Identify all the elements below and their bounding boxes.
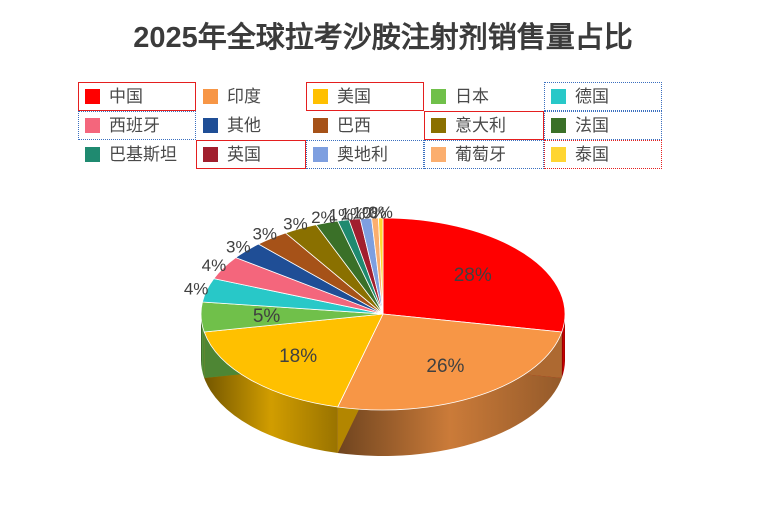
- pie-chart-figure: 2025年全球拉考沙胺注射剂销售量占比 中国印度美国日本德国西班牙其他巴西意大利…: [0, 0, 766, 516]
- legend-item-法国[interactable]: 法国: [544, 111, 662, 140]
- pie-label-德国: 4%: [184, 280, 209, 299]
- legend-swatch-icon: [551, 89, 566, 104]
- legend-item-意大利[interactable]: 意大利: [424, 111, 544, 140]
- legend-item-label: 德国: [575, 88, 609, 105]
- legend-item-日本[interactable]: 日本: [424, 82, 544, 111]
- legend-item-葡萄牙[interactable]: 葡萄牙: [424, 140, 544, 169]
- legend-swatch-icon: [431, 147, 446, 162]
- pie-label-意大利: 3%: [283, 214, 308, 233]
- legend-item-label: 奥地利: [337, 146, 388, 163]
- legend-item-中国[interactable]: 中国: [78, 82, 196, 111]
- legend-swatch-icon: [551, 147, 566, 162]
- legend-item-label: 意大利: [455, 117, 506, 134]
- legend-swatch-icon: [431, 118, 446, 133]
- page-title: 2025年全球拉考沙胺注射剂销售量占比: [0, 14, 766, 56]
- legend-item-label: 英国: [227, 146, 261, 163]
- legend-swatch-icon: [313, 118, 328, 133]
- pie-svg: 28%26%18%5%4%4%3%3%3%2%1%1%1%0%0%: [183, 196, 583, 486]
- legend-item-德国[interactable]: 德国: [544, 82, 662, 111]
- legend-swatch-icon: [85, 118, 100, 133]
- legend-item-label: 葡萄牙: [455, 146, 506, 163]
- legend-swatch-icon: [551, 118, 566, 133]
- legend-item-印度[interactable]: 印度: [196, 82, 306, 111]
- legend-item-巴基斯坦[interactable]: 巴基斯坦: [78, 140, 196, 169]
- chart-legend: 中国印度美国日本德国西班牙其他巴西意大利法国巴基斯坦英国奥地利葡萄牙泰国: [78, 82, 688, 169]
- legend-swatch-icon: [313, 147, 328, 162]
- legend-item-label: 巴西: [337, 117, 371, 134]
- legend-item-西班牙[interactable]: 西班牙: [78, 111, 196, 140]
- legend-swatch-icon: [85, 147, 100, 162]
- pie-label-日本: 5%: [253, 306, 281, 327]
- pie-label-其他: 3%: [226, 238, 251, 257]
- pie-label-巴西: 3%: [252, 225, 277, 244]
- legend-item-奥地利[interactable]: 奥地利: [306, 140, 424, 169]
- legend-swatch-icon: [313, 89, 328, 104]
- pie-chart-graphic: 28%26%18%5%4%4%3%3%3%2%1%1%1%0%0%: [183, 196, 583, 486]
- legend-item-美国[interactable]: 美国: [306, 82, 424, 111]
- legend-item-其他[interactable]: 其他: [196, 111, 306, 140]
- pie-label-印度: 26%: [426, 356, 464, 377]
- legend-swatch-icon: [203, 89, 218, 104]
- legend-item-巴西[interactable]: 巴西: [306, 111, 424, 140]
- legend-item-label: 巴基斯坦: [109, 146, 177, 163]
- legend-item-label: 中国: [109, 88, 143, 105]
- legend-item-label: 印度: [227, 88, 261, 105]
- legend-item-label: 美国: [337, 88, 371, 105]
- legend-item-label: 西班牙: [109, 117, 160, 134]
- legend-item-label: 其他: [227, 117, 261, 134]
- legend-item-label: 泰国: [575, 146, 609, 163]
- legend-item-英国[interactable]: 英国: [196, 140, 306, 169]
- legend-swatch-icon: [431, 89, 446, 104]
- legend-swatch-icon: [203, 118, 218, 133]
- pie-label-美国: 18%: [279, 346, 317, 367]
- legend-item-label: 法国: [575, 117, 609, 134]
- pie-label-泰国: 0%: [368, 203, 393, 222]
- pie-label-中国: 28%: [454, 265, 492, 286]
- legend-swatch-icon: [85, 89, 100, 104]
- legend-item-泰国[interactable]: 泰国: [544, 140, 662, 169]
- legend-item-label: 日本: [455, 88, 489, 105]
- legend-swatch-icon: [203, 147, 218, 162]
- pie-label-西班牙: 4%: [202, 256, 227, 275]
